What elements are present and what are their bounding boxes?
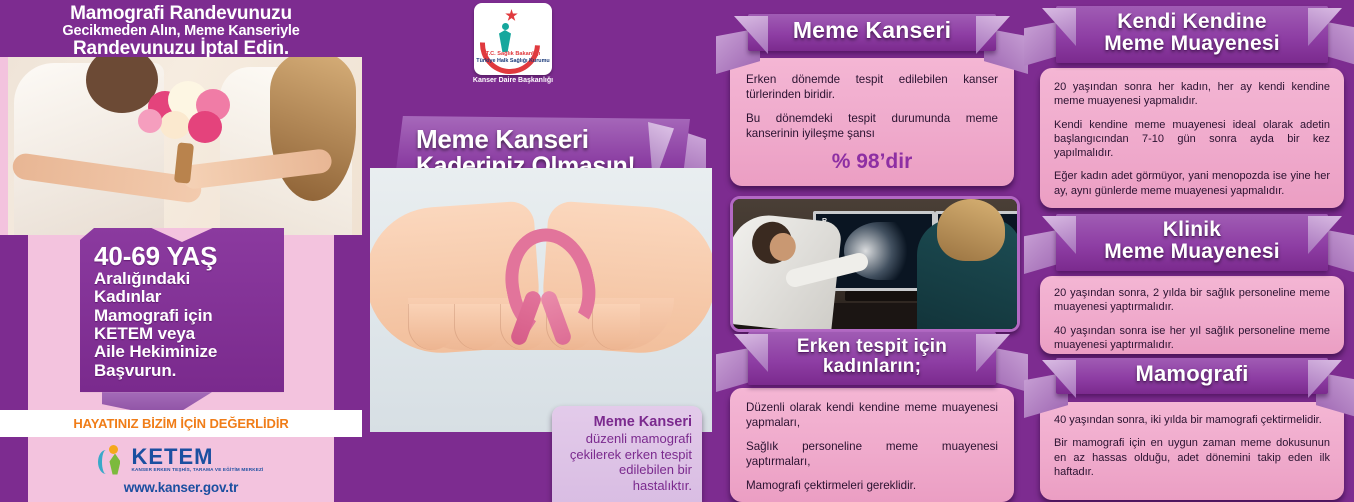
woman-hair	[270, 57, 356, 201]
breast-cancer-p1: Erken dönemde tespit edilebilen kanser t…	[746, 72, 998, 102]
mammography-title: Mamografi	[1060, 363, 1324, 386]
pink-awareness-ribbon-icon	[496, 228, 588, 348]
self-exam-title-2: Meme Muayenesi	[1060, 33, 1324, 55]
clinical-exam-title-1: Klinik	[1060, 219, 1324, 241]
clinical-exam-p2: 40 yaşından sonra ise her yıl sağlık per…	[1054, 324, 1330, 353]
self-exam-p1: 20 yaşından sonra her kadın, her ay kend…	[1054, 80, 1330, 109]
ketem-subtitle: KANSER ERKEN TEŞHİS, TARAMA VE EĞİTİM ME…	[131, 467, 263, 472]
couple-with-flowers-photo	[8, 57, 362, 235]
age-line-4: Mamografi için	[94, 307, 284, 325]
early-detection-p3: Mamografi çektirmeleri gereklidir.	[746, 478, 998, 493]
center-title-line-1: Meme Kanseri	[416, 126, 674, 153]
early-detection-title-2: kadınların;	[752, 357, 992, 377]
right-column-a: Meme Kanseri Erken dönemde tespit edileb…	[722, 0, 1022, 502]
center-bottom-info-card: Meme Kanseri düzenli mamografi çekilerek…	[552, 406, 702, 502]
ministry-caption: Kanser Daire Başkanlığı	[466, 77, 560, 84]
center-card-heading: Meme Kanseri	[562, 414, 692, 431]
value-slogan-text: HAYATINIZ BİZİM İÇİN DEĞERLİDİR	[73, 416, 288, 431]
breast-cancer-p2: Bu dönemdeki tespit durumunda meme kanse…	[746, 111, 998, 141]
center-poster-panel: T.C. Sağlık Bakanlığı Türkiye Halk Sağlı…	[370, 0, 712, 502]
age-callout-banner: 40-69 YAŞ Aralığındaki Kadınlar Mamograf…	[80, 228, 284, 418]
clinical-exam-banner: Klinik Meme Muayenesi	[1030, 214, 1354, 271]
survival-percent: % 98’dir	[746, 150, 998, 174]
ketem-logo-area: KETEM KANSER ERKEN TEŞHİS, TARAMA VE EĞİ…	[28, 437, 334, 502]
ketem-wordmark: KETEM KANSER ERKEN TEŞHİS, TARAMA VE EĞİ…	[131, 447, 263, 472]
headline-line-2: Gecikmeden Alın, Meme Kanseriyle	[0, 23, 362, 39]
infographic-canvas: Mamografi Randevunuzu Gecikmeden Alın, M…	[0, 0, 1354, 502]
figure-body	[499, 30, 511, 52]
early-detection-banner: Erken tespit için kadınların;	[722, 332, 1022, 385]
clinical-exam-p1: 20 yaşından sonra, 2 yılda bir sağlık pe…	[1054, 286, 1330, 315]
age-line-7: Başvurun.	[94, 362, 284, 380]
self-exam-title-1: Kendi Kendine	[1060, 11, 1324, 33]
age-line-1: 40-69 YAŞ	[94, 242, 284, 270]
age-callout-box: 40-69 YAŞ Aralığındaki Kadınlar Mamograf…	[80, 228, 284, 392]
ketem-url-text[interactable]: www.kanser.gov.tr	[124, 480, 238, 495]
hands-holding-pink-ribbon-photo	[370, 168, 712, 432]
clinical-exam-card: 20 yaşından sonra, 2 yılda bir sağlık pe…	[1040, 276, 1344, 354]
headline-line-3: Randevunuzu İptal Edin.	[0, 39, 362, 59]
flower-bouquet	[138, 75, 242, 153]
self-exam-p3: Eğer kadın adet görmüyor, yani menopozda…	[1054, 169, 1330, 198]
left-headline-text: Mamografi Randevunuzu Gecikmeden Alın, M…	[0, 4, 362, 59]
age-line-6: Aile Hekiminize	[94, 343, 284, 361]
ketem-word-text: KETEM	[131, 447, 213, 467]
mammography-p2: Bir mamografi için en uygun zaman meme d…	[1054, 436, 1330, 479]
breast-cancer-banner: Meme Kanseri	[722, 14, 1022, 51]
early-detection-p2: Sağlık personeline meme muayenesi yaptır…	[746, 439, 998, 469]
age-line-5: KETEM veya	[94, 325, 284, 343]
figure-head	[502, 23, 509, 30]
age-line-2: Aralığındaki	[94, 270, 284, 288]
ketem-logo: KETEM KANSER ERKEN TEŞHİS, TARAMA VE EĞİ…	[98, 445, 263, 475]
ministry-line-2: Türkiye Halk Sağlığı Kurumu	[474, 58, 552, 64]
mammography-banner: Mamografi	[1030, 358, 1354, 394]
self-exam-banner: Kendi Kendine Meme Muayenesi	[1030, 6, 1354, 63]
ketem-figure-icon	[98, 445, 128, 475]
patient-hair	[937, 199, 1005, 261]
human-figure-icon	[497, 23, 513, 53]
left-purple-edge-right	[334, 235, 362, 502]
banner-body: Kendi Kendine Meme Muayenesi	[1056, 6, 1328, 63]
banner-notch	[80, 228, 284, 242]
doctor-showing-mammogram-photo: R L	[730, 196, 1020, 332]
early-detection-p1: Düzenli olarak kendi kendine meme muayen…	[746, 400, 998, 430]
breast-cancer-title: Meme Kanseri	[752, 19, 992, 43]
left-poster-panel: Mamografi Randevunuzu Gecikmeden Alın, M…	[0, 0, 362, 502]
center-card-body: düzenli mamografi çekilerek erken tespit…	[562, 431, 692, 493]
self-exam-card: 20 yaşından sonra her kadın, her ay kend…	[1040, 68, 1344, 208]
banner-body: Klinik Meme Muayenesi	[1056, 214, 1328, 271]
headline-line-1: Mamografi Randevunuzu	[0, 4, 362, 23]
mammography-p1: 40 yaşından sonra, iki yılda bir mamogra…	[1054, 413, 1330, 427]
left-purple-edge-left	[0, 235, 28, 502]
value-slogan-strip: HAYATINIZ BİZİM İÇİN DEĞERLİDİR	[0, 410, 362, 437]
clinical-exam-title-2: Meme Muayenesi	[1060, 241, 1324, 263]
self-exam-p2: Kendi kendine meme muayenesi ideal olara…	[1054, 118, 1330, 161]
right-column-b: Kendi Kendine Meme Muayenesi 20 yaşından…	[1030, 0, 1354, 502]
ministry-line-1: T.C. Sağlık Bakanlığı	[474, 51, 552, 57]
early-detection-card: Düzenli olarak kendi kendine meme muayen…	[730, 388, 1014, 502]
mammography-card: 40 yaşından sonra, iki yılda bir mamogra…	[1040, 402, 1344, 500]
banner-body: Meme Kanseri	[748, 14, 996, 51]
banner-body: Erken tespit için kadınların;	[748, 332, 996, 385]
ministry-of-health-logo: T.C. Sağlık Bakanlığı Türkiye Halk Sağlı…	[466, 3, 560, 88]
age-line-3: Kadınlar	[94, 288, 284, 306]
early-detection-title-1: Erken tespit için	[752, 337, 992, 357]
breast-cancer-card: Erken dönemde tespit edilebilen kanser t…	[730, 58, 1014, 186]
banner-body: Mamografi	[1056, 358, 1328, 394]
